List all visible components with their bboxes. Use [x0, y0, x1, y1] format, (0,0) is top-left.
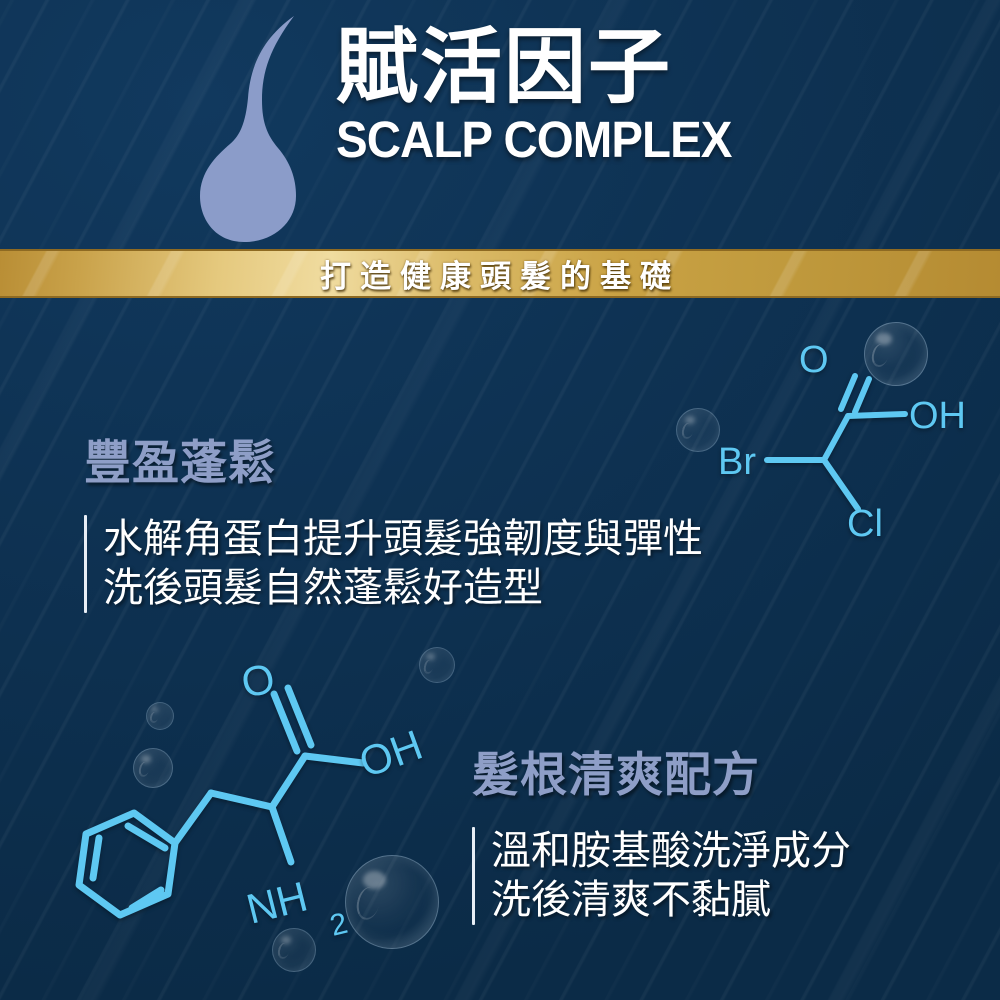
bond-ch2-ch [211, 793, 272, 807]
feature-line: 洗後清爽不黏膩 [491, 876, 851, 925]
feature-line-list: 水解角蛋白提升頭髮強韌度與彈性 洗後頭髮自然蓬鬆好造型 [103, 515, 703, 613]
bond-ch-c [272, 756, 305, 807]
feature-line: 溫和胺基酸洗淨成分 [491, 827, 851, 876]
poster-canvas: O OH Br Cl [0, 0, 1000, 1000]
atom-label-oh: OH [909, 395, 966, 437]
feature-body: 溫和胺基酸洗淨成分 洗後清爽不黏膩 [472, 827, 851, 925]
hair-follicle-icon [186, 14, 336, 244]
feature-line: 洗後頭髮自然蓬鬆好造型 [103, 564, 703, 613]
page-title-en: SCALP COMPLEX [336, 114, 857, 165]
bond-double-a [841, 376, 855, 409]
bond-c-ch [824, 416, 848, 460]
atom-label-cl: Cl [847, 503, 883, 545]
feature-line: 水解角蛋白提升頭髮強韌度與彈性 [103, 515, 703, 564]
atom-label-nh: NH [242, 872, 312, 932]
feature-divider-rule [84, 515, 87, 613]
header-title-block: 賦活因子 SCALP COMPLEX [336, 26, 896, 165]
ring-double-1 [93, 838, 99, 878]
atom-label-br: Br [718, 441, 756, 483]
page-title-cn: 賦活因子 [336, 26, 896, 110]
bond-ch-cl [824, 460, 858, 509]
bond-c-oh [848, 414, 905, 416]
bond-c-oh [305, 756, 363, 763]
feature-divider-rule [472, 827, 475, 925]
feature-block-volume: 豐盈蓬鬆 水解角蛋白提升頭髮強韌度與彈性 洗後頭髮自然蓬鬆好造型 [84, 424, 703, 613]
feature-heading: 豐盈蓬鬆 [84, 424, 703, 493]
atom-label-oh: OH [353, 721, 428, 787]
feature-line-list: 溫和胺基酸洗淨成分 洗後清爽不黏膩 [491, 827, 851, 925]
gold-banner: 打造健康頭髮的基礎 [0, 249, 1000, 298]
bubble-decoration [272, 928, 316, 972]
bond-ch-nh2 [272, 807, 291, 862]
bubble-decoration [345, 855, 439, 949]
bond-double-b [855, 379, 869, 412]
feature-heading: 髮根清爽配方 [472, 736, 851, 805]
feature-body: 水解角蛋白提升頭髮強韌度與彈性 洗後頭髮自然蓬鬆好造型 [84, 515, 703, 613]
molecule-bromochloroacetic-acid: O OH Br Cl [700, 320, 1000, 550]
follicle-shape [200, 16, 296, 242]
atom-label-o: O [237, 654, 279, 707]
gold-banner-text: 打造健康頭髮的基礎 [320, 251, 680, 296]
feature-block-scalp-fresh: 髮根清爽配方 溫和胺基酸洗淨成分 洗後清爽不黏膩 [472, 736, 851, 925]
bond-ring-ch2 [175, 793, 211, 843]
atom-label-o: O [799, 339, 829, 381]
